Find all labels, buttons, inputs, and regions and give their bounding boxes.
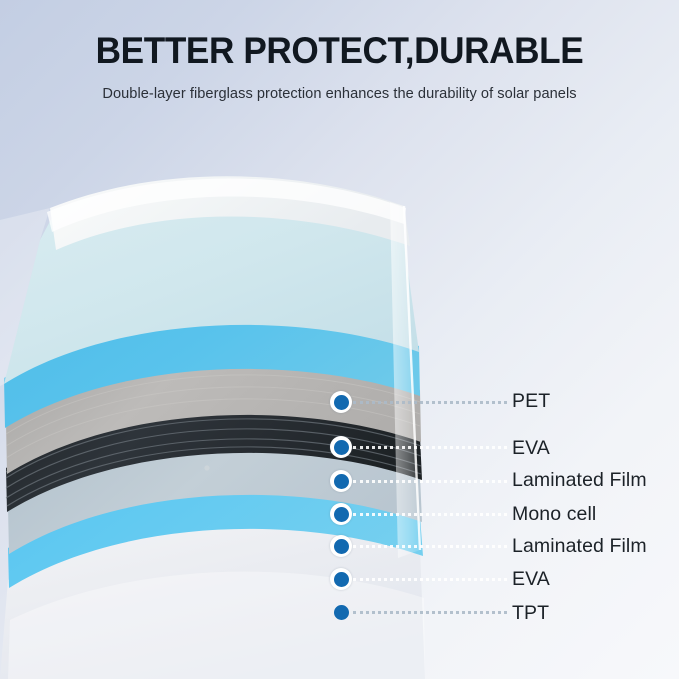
callout-label-pet: PET — [512, 392, 550, 412]
header: BETTER PROTECT,DURABLE Double-layer fibe… — [0, 0, 679, 104]
callout-label-tpt: TPT — [512, 604, 549, 624]
callout-label-eva-bottom: EVA — [512, 570, 550, 590]
page-subtitle: Double-layer fiberglass protection enhan… — [0, 86, 679, 104]
solar-panel-layer-illustration — [0, 150, 500, 679]
callout-label-laminated-bot: Laminated Film — [512, 537, 647, 557]
callout-label-mono-cell: Mono cell — [512, 505, 596, 525]
callout-label-eva-top: EVA — [512, 439, 550, 459]
diagram-canvas: BETTER PROTECT,DURABLE Double-layer fibe… — [0, 0, 679, 679]
callout-label-laminated-top: Laminated Film — [512, 471, 647, 491]
mono-cell-marker-dot — [204, 465, 209, 470]
page-title: BETTER PROTECT,DURABLE — [17, 30, 662, 71]
